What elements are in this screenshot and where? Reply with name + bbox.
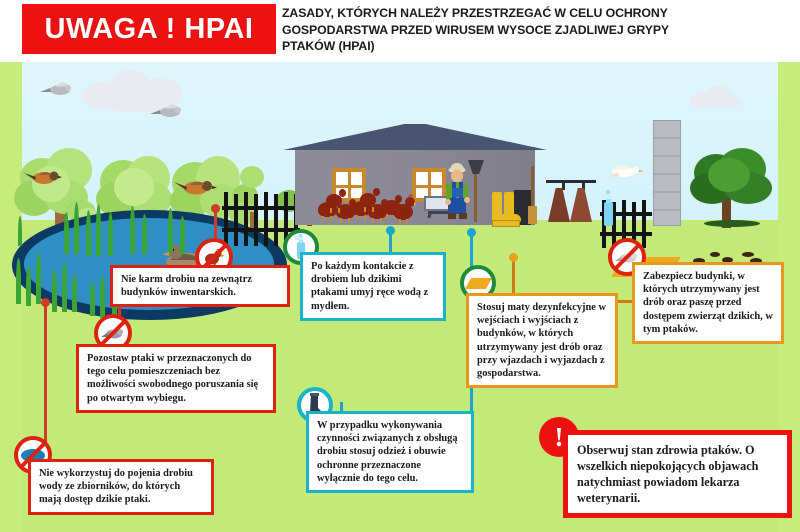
callout-text: Obserwuj stan zdrowia ptaków. O wszelkic… — [577, 443, 758, 505]
callout-text: Nie karm drobiu na zewnątrz budynków inw… — [121, 274, 252, 298]
connector-node-cyan-1 — [386, 226, 395, 235]
poster-title-line-2: GOSPODARSTWA PRZED WIRUSEM WYSOCE ZJADLI… — [282, 22, 792, 39]
hpai-poster: UWAGA ! HPAI ZASADY, KTÓRYCH NALEŻY PRZE… — [0, 0, 800, 532]
callout-monitor-bird-health: Obserwuj stan zdrowia ptaków. O wszelkic… — [563, 430, 792, 518]
broom-tool — [528, 166, 536, 224]
alert-badge-label: UWAGA ! HPAI — [45, 13, 254, 46]
callout-text: Nie wykorzystuj do pojenia drobiu wody z… — [39, 468, 193, 505]
poster-title: ZASADY, KTÓRYCH NALEŻY PRZESTRZEGAĆ W CE… — [282, 5, 792, 55]
callout-disinfection-mats: Stosuj maty dezynfekcyjne w wejściach i … — [466, 293, 618, 388]
wild-bird-flying-2 — [148, 100, 184, 120]
connector-node-orange-1 — [509, 253, 518, 262]
connector-no-outdoor-feeding — [214, 208, 217, 242]
callout-wash-hands: Po każdym kontakcie z drobiem lub dzikim… — [300, 252, 446, 321]
callout-text: W przypadku wykonywania czynności związa… — [317, 420, 458, 484]
protective-coats-rack — [546, 180, 596, 228]
callout-text: Zabezpiecz budynki, w których utrzymywan… — [643, 271, 773, 335]
callout-no-outdoor-feeding: Nie karm drobiu na zewnątrz budynków inw… — [110, 265, 290, 307]
callout-text: Pozostaw ptaki w przeznaczonych do tego … — [87, 353, 258, 404]
callout-text: Stosuj maty dezynfekcyjne w wejściach i … — [477, 302, 606, 379]
connector-node-cyan-2 — [467, 228, 476, 237]
farmer-figure — [440, 162, 474, 224]
connector-node-red-1 — [211, 204, 220, 213]
floor-sign — [492, 220, 520, 227]
dove-flying-icon — [604, 160, 644, 182]
shovel-tool — [472, 160, 478, 222]
poster-title-line-1: ZASADY, KTÓRYCH NALEŻY PRZESTRZEGAĆ W CE… — [282, 5, 792, 22]
poster-title-line-3: PTAKÓW (HPAI) — [282, 38, 792, 55]
callout-text: Po każdym kontakcie z drobiem lub dzikim… — [311, 261, 428, 312]
callout-no-open-water: Nie wykorzystuj do pojenia drobiu wody z… — [28, 459, 214, 515]
alert-badge: UWAGA ! HPAI — [22, 4, 276, 54]
grain-silo — [653, 120, 681, 226]
poster-header: UWAGA ! HPAI ZASADY, KTÓRYCH NALEŻY PRZE… — [0, 0, 800, 64]
callout-keep-birds-indoors: Pozostaw ptaki w przeznaczonych do tego … — [76, 344, 276, 413]
callout-protective-clothing: W przypadku wykonywania czynności związa… — [306, 411, 474, 493]
spray-bottle-in-scene — [600, 190, 616, 228]
wild-bird-flying-1 — [38, 78, 74, 98]
connector-node-red-3 — [41, 298, 50, 307]
callout-secure-buildings: Zabezpiecz budynki, w których utrzymywan… — [632, 262, 784, 344]
